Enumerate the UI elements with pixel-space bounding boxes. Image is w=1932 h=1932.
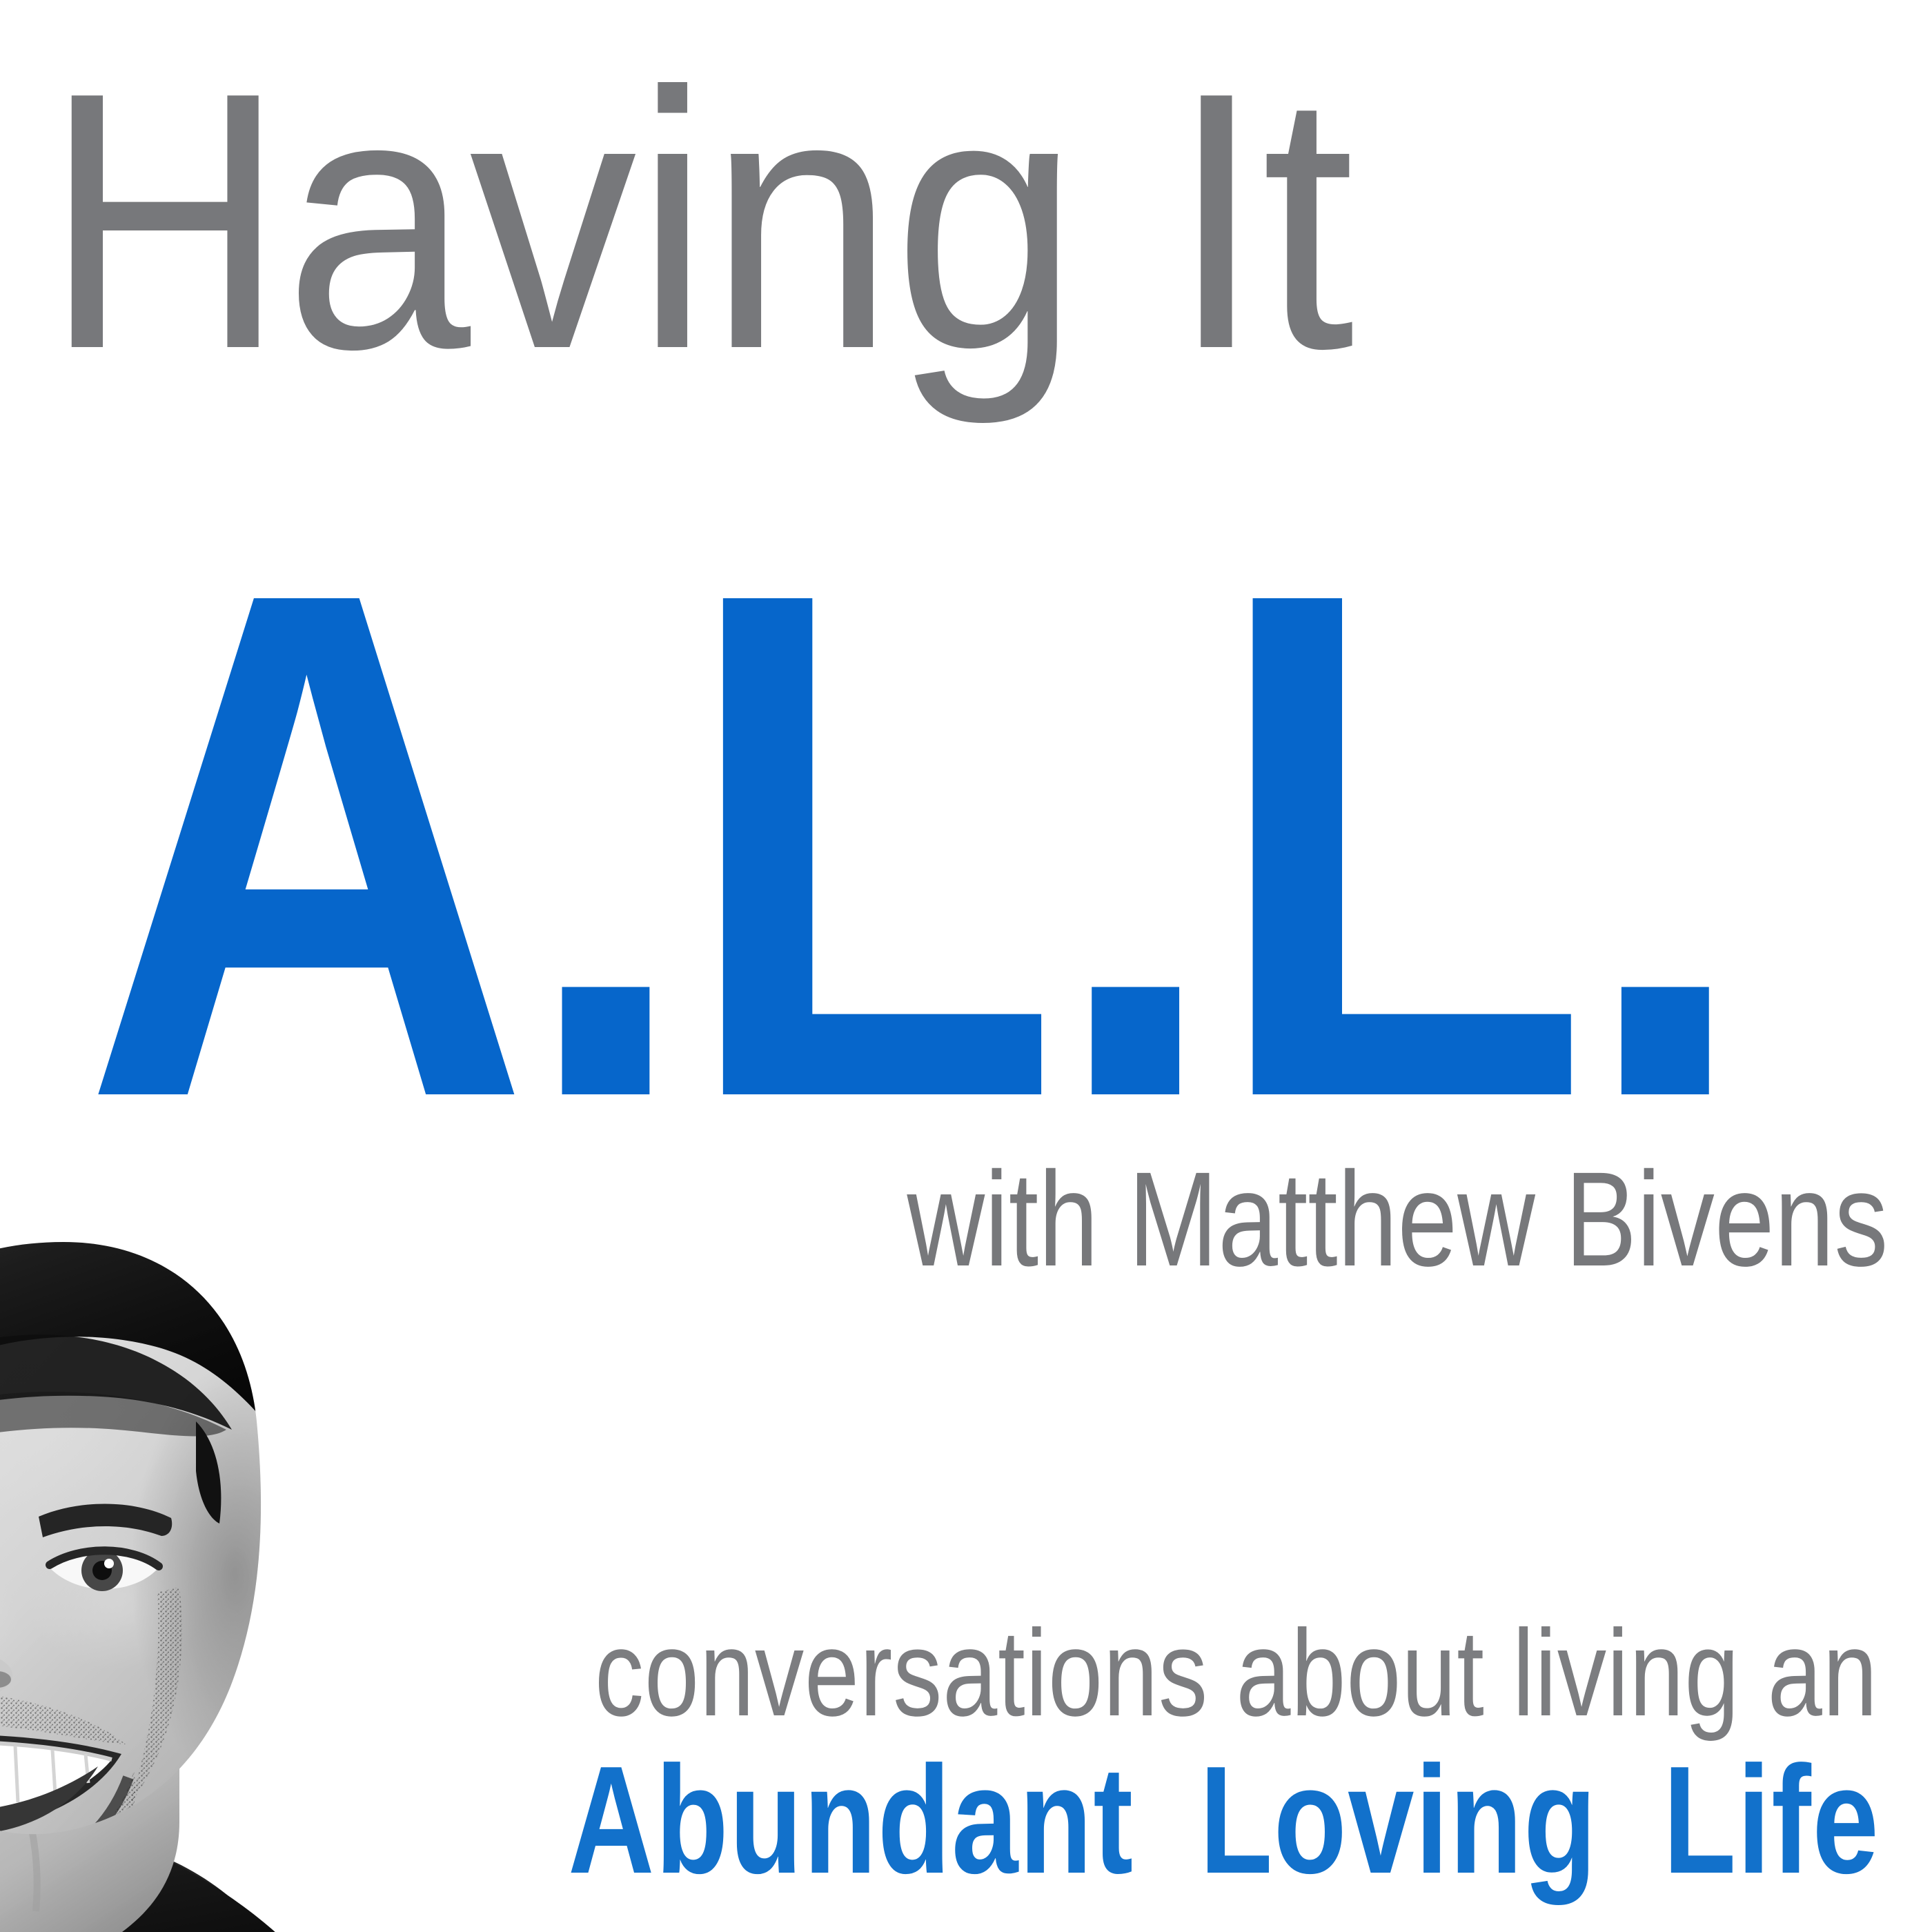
page-title-line-1: Having It (44, 41, 1736, 400)
tagline-line-2: Abundant Loving Life (568, 1739, 1880, 1902)
host-face (0, 1214, 483, 1932)
podcast-cover-art: Having It A.L.L. with Matthew Bivens con… (0, 0, 1932, 1932)
tagline-line-1: conversations about living an (595, 1608, 1878, 1739)
page-title-line-2: A.L.L. (83, 549, 1649, 1149)
host-photo (0, 1214, 483, 1932)
host-byline: with Matthew Bivens (907, 1149, 1888, 1290)
